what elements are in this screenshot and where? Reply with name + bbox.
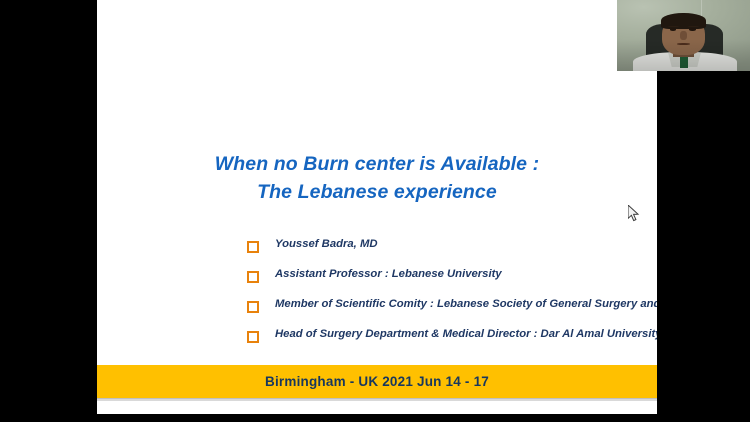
slide-bullet-list: Youssef Badra, MD Assistant Professor : … (247, 237, 657, 357)
bullet-label: Head of Surgery Department & Medical Dir… (275, 327, 657, 341)
letterbox-bottom (0, 414, 750, 422)
slide-bottom-margin (97, 401, 657, 414)
hollow-square-bullet-icon (247, 331, 259, 343)
slide-title-line-1: When no Burn center is Available : (215, 153, 539, 175)
letterbox-left (0, 0, 97, 422)
list-item: Youssef Badra, MD (247, 237, 657, 267)
arrow-cursor-icon (628, 205, 640, 223)
bullet-label: Member of Scientific Comity : Lebanese S… (275, 297, 657, 311)
presenter-webcam-feed[interactable] (617, 0, 750, 71)
screen-share-stage: When no Burn center is Available : The L… (0, 0, 750, 422)
slide-footer-band: Birmingham - UK 2021 Jun 14 - 17 (97, 365, 657, 398)
presentation-slide[interactable]: When no Burn center is Available : The L… (97, 0, 657, 414)
slide-footer-text: Birmingham - UK 2021 Jun 14 - 17 (265, 374, 489, 389)
list-item: Member of Scientific Comity : Lebanese S… (247, 297, 657, 327)
slide-footer-band-fill: Birmingham - UK 2021 Jun 14 - 17 (97, 365, 657, 398)
list-item: Head of Surgery Department & Medical Dir… (247, 327, 657, 357)
webcam-vignette (617, 0, 750, 71)
slide-title-line-2: The Lebanese experience (97, 178, 657, 206)
bullet-label: Youssef Badra, MD (275, 237, 378, 251)
bullet-label: Assistant Professor : Lebanese Universit… (275, 267, 502, 281)
hollow-square-bullet-icon (247, 241, 259, 253)
letterbox-right (657, 71, 750, 422)
hollow-square-bullet-icon (247, 271, 259, 283)
list-item: Assistant Professor : Lebanese Universit… (247, 267, 657, 297)
slide-title: When no Burn center is Available : The L… (97, 122, 657, 234)
hollow-square-bullet-icon (247, 301, 259, 313)
